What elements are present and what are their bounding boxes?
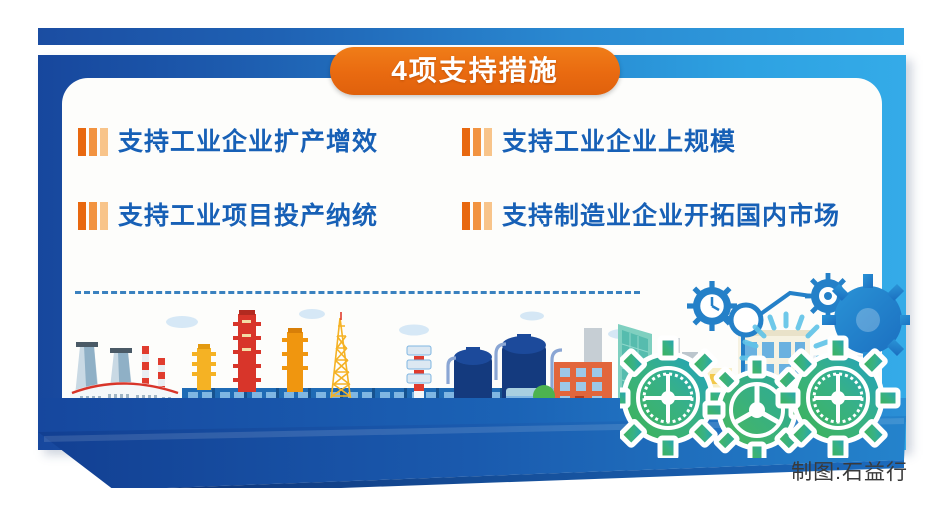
orange-tower [282,328,308,392]
measures-list: 支持工业企业扩产增效 支持工业企业上规模 支持工业项目投产纳统 支持制造业企业开… [62,112,882,272]
bottom-angled-ribbon [38,398,918,488]
triple-bar-icon [78,202,108,230]
ribbon-svg [38,398,918,488]
measure-item-4[interactable]: 支持制造业企业开拓国内市场 [462,202,840,230]
top-accent-bar [38,28,904,45]
measure-label-4: 支持制造业企业开拓国内市场 [502,204,840,229]
measure-label-2: 支持工业企业上规模 [502,130,736,155]
infographic-canvas: 4项支持措施 支持工业企业扩产增效 支持工业企业上规模 支持工业项目投产纳统 [0,0,950,507]
lattice-tower [330,312,352,410]
dashed-divider [75,291,640,294]
page-margin-text: 工业经济稳增长政策措施 [936,56,950,496]
credit-line: 制图:石益行 [791,462,908,483]
measure-item-2[interactable]: 支持工业企业上规模 [462,128,736,156]
measure-item-3[interactable]: 支持工业项目投产纳统 [78,202,378,230]
triple-bar-icon [462,128,492,156]
title-banner: 4项支持措施 [330,47,620,95]
page-title: 4项支持措施 [391,57,559,85]
measure-label-3: 支持工业项目投产纳统 [118,204,378,229]
yellow-tower-small [192,344,216,390]
margin-text-fragment: 工业经济稳增长政策措施 [936,56,950,199]
measure-item-1[interactable]: 支持工业企业扩产增效 [78,128,378,156]
triple-bar-icon [462,202,492,230]
triple-bar-icon [78,128,108,156]
measure-label-1: 支持工业企业扩产增效 [118,130,378,155]
red-tower [233,310,261,392]
